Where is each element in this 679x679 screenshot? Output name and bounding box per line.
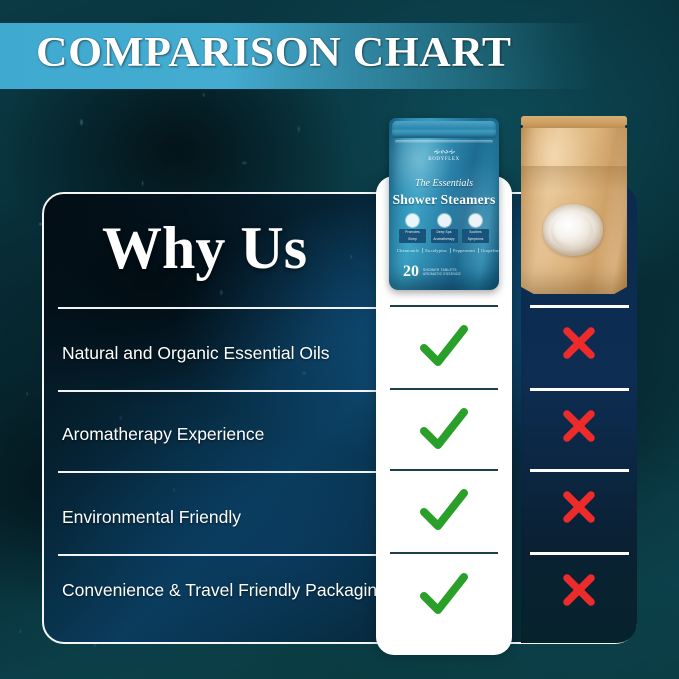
row-divider-2 [58,471,382,473]
competitor-mark-2 [521,487,637,527]
our-divider-3 [390,552,498,554]
competitor-divider-1 [530,388,629,391]
our-product-image: ∻∾∻ BODYFLEX The Essentials Shower Steam… [389,118,499,290]
pouch-script-text: The Essentials [389,178,499,189]
pouch-scent-0: Chamomile [394,248,422,253]
competitor-divider-0 [530,305,629,308]
our-divider-0 [390,305,498,307]
kraft-bag-fold [521,166,627,192]
pouch-scent-list: Chamomile Eucalyptus Peppermint Grapefru… [394,248,494,253]
competitor-divider-2 [530,469,629,472]
competitor-mark-1 [521,406,637,446]
competitor-product-image [521,116,627,294]
pouch-scent-2: Peppermint [450,248,478,253]
spa-icon [438,214,451,227]
page-title: COMPARISON CHART [36,29,512,77]
pouch-badge-row: Promotes Sleep Deep Spa Aromatherapy Soo… [399,214,489,243]
pouch-badge-2-line2: Symptoms [462,236,489,243]
leaf-icon [469,214,482,227]
pouch-scent-3: Grapefruit [478,248,504,253]
pouch-zipper [395,140,493,143]
row-divider-0 [58,307,382,309]
pouch-count-number: 20 [403,264,419,280]
droplet-icon [406,214,419,227]
pouch-count-block: 20 SHOWER TABLETS AROMATIC ESSENCE [403,264,461,280]
feature-label-3: Convenience & Travel Friendly Packaging [62,579,392,603]
pouch-badge-2: Soothes Symptoms [462,214,489,243]
competitor-mark-0 [521,323,637,363]
pouch-badge-2-line1: Soothes [462,229,489,236]
comparison-chart-infographic: COMPARISON CHART Why Us Natural and Orga… [0,0,679,679]
pouch-badge-0-line1: Promotes [399,229,426,236]
pouch-badge-1-line2: Aromatherapy [431,236,458,243]
kraft-bag-notch-right [625,125,628,128]
feature-label-2: Environmental Friendly [62,506,392,530]
our-divider-1 [390,388,498,390]
our-divider-2 [390,469,498,471]
panel-heading: Why Us [102,218,307,278]
competitor-mark-3 [521,570,637,610]
pouch-count-sub-line2: AROMATIC ESSENCE [423,272,461,276]
pouch-product-title: Shower Steamers [389,192,499,208]
row-divider-1 [58,390,382,392]
pouch-badge-1: Deep Spa Aromatherapy [431,214,458,243]
our-mark-2 [376,488,512,532]
pouch-badge-0-line2: Sleep [399,236,426,243]
kraft-bag-notch-left [520,125,523,128]
pouch-top-seal [392,121,496,138]
pouch-brand-logo: ∻∾∻ BODYFLEX [389,148,499,162]
pouch-count-sub: SHOWER TABLETS AROMATIC ESSENCE [423,268,461,277]
feature-label-1: Aromatherapy Experience [62,423,392,447]
pouch-badge-1-line1: Deep Spa [431,229,458,236]
our-mark-3 [376,572,512,616]
pouch-logo-mark: ∻∾∻ [389,148,499,157]
kraft-bag-top-seal [521,116,627,128]
pouch-scent-1: Eucalyptus [422,248,450,253]
competitor-divider-3 [530,552,629,555]
our-mark-1 [376,407,512,451]
kraft-bag-window [543,204,603,256]
pouch-badge-0: Promotes Sleep [399,214,426,243]
our-mark-0 [376,324,512,368]
row-divider-3 [58,554,382,556]
feature-label-0: Natural and Organic Essential Oils [62,342,392,366]
